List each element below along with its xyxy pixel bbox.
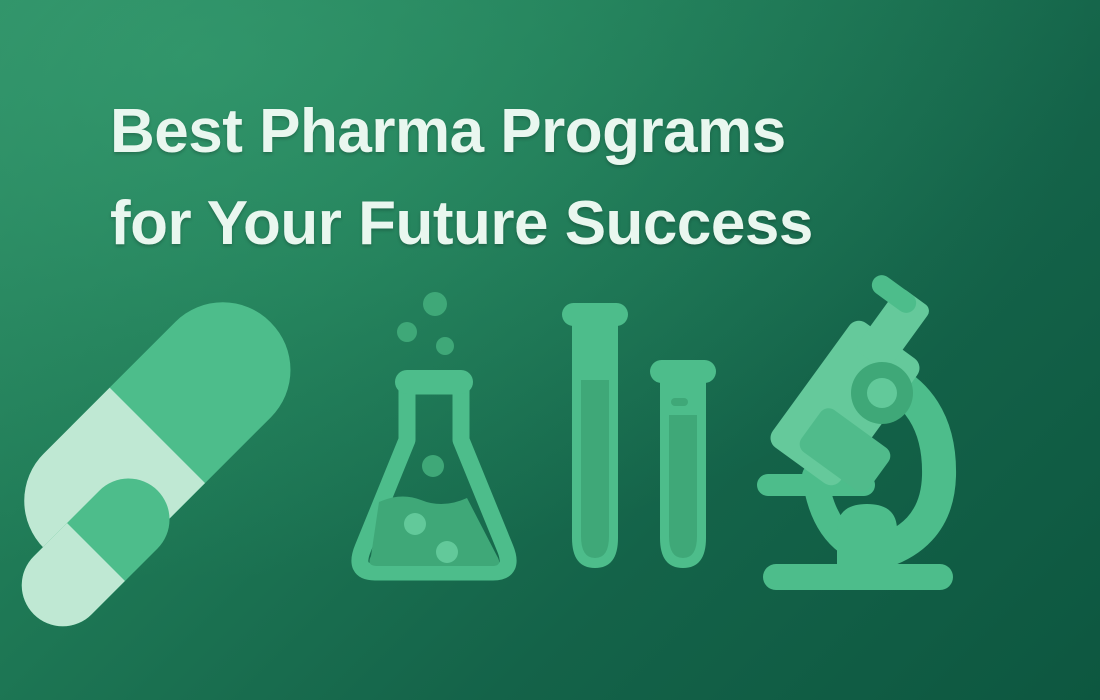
- test-tubes-icon: [550, 280, 730, 600]
- flask-bubble-right: [436, 337, 454, 355]
- icon-row: [0, 280, 1100, 620]
- erlenmeyer-flask-icon: [345, 280, 535, 600]
- flask-inner-bubble-3: [436, 541, 458, 563]
- short-tube-liquid: [669, 415, 697, 558]
- microscope-focus-knob-center: [867, 378, 897, 408]
- flask-bubble-top: [423, 292, 447, 316]
- headline-line-1: Best Pharma Programs: [110, 86, 990, 178]
- flask-inner-bubble-1: [422, 455, 444, 477]
- tall-tube-liquid: [581, 380, 609, 558]
- page-title: Best Pharma Programs for Your Future Suc…: [110, 86, 990, 270]
- test-tube-short: [650, 360, 716, 568]
- microscope-icon: [745, 280, 965, 600]
- microscope-base: [763, 564, 953, 590]
- test-tube-tall: [562, 303, 628, 568]
- pharma-programs-banner: Best Pharma Programs for Your Future Suc…: [0, 0, 1100, 700]
- flask-bubble-left: [397, 322, 417, 342]
- microscope-base-dome: [837, 504, 897, 570]
- short-tube-graduation-mark: [671, 398, 688, 406]
- flask-rim: [395, 370, 473, 394]
- pill-capsules-icon: [45, 280, 335, 610]
- headline-line-2: for Your Future Success: [110, 178, 990, 270]
- flask-inner-bubble-2: [404, 513, 426, 535]
